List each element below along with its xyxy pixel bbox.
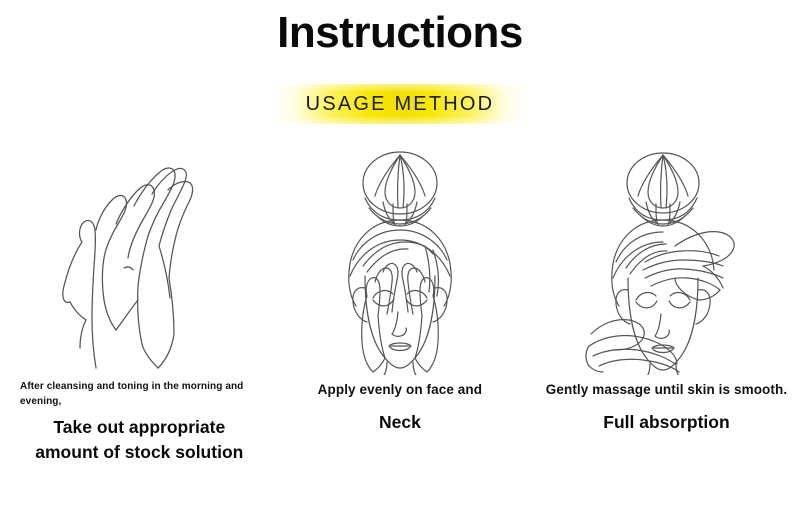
step-item: Gently massage until skin is smooth. Ful… bbox=[533, 150, 800, 465]
step-item: Apply evenly on face and Neck bbox=[267, 150, 534, 465]
instructions-infographic: Instructions USAGE METHOD bbox=[0, 0, 800, 530]
step-1-note: After cleansing and toning in the mornin… bbox=[20, 380, 259, 409]
step-1-caption: After cleansing and toning in the mornin… bbox=[0, 380, 267, 465]
step-2-instruction: Neck bbox=[273, 410, 528, 435]
two-hands-palms-together-icon bbox=[38, 150, 228, 375]
usage-method-badge: USAGE METHOD bbox=[275, 84, 525, 124]
step-item: After cleansing and toning in the mornin… bbox=[0, 150, 267, 465]
step-3-illustration bbox=[571, 150, 761, 380]
usage-method-badge-wrap: USAGE METHOD bbox=[0, 84, 800, 124]
step-3-caption: Gently massage until skin is smooth. Ful… bbox=[533, 380, 800, 434]
step-3-note: Gently massage until skin is smooth. bbox=[539, 380, 794, 400]
step-1-illustration bbox=[38, 150, 228, 380]
step-2-illustration bbox=[305, 150, 495, 380]
page-title: Instructions bbox=[0, 8, 800, 59]
step-2-caption: Apply evenly on face and Neck bbox=[267, 380, 534, 434]
steps-row: After cleansing and toning in the mornin… bbox=[0, 150, 800, 465]
woman-face-hand-on-forehead-and-chin-icon bbox=[571, 150, 761, 375]
step-2-note: Apply evenly on face and bbox=[273, 380, 528, 400]
step-1-instruction: Take out appropriate amount of stock sol… bbox=[20, 415, 259, 465]
step-3-instruction: Full absorption bbox=[539, 410, 794, 435]
usage-method-badge-label: USAGE METHOD bbox=[306, 93, 495, 116]
woman-face-hands-on-cheeks-icon bbox=[305, 150, 495, 375]
